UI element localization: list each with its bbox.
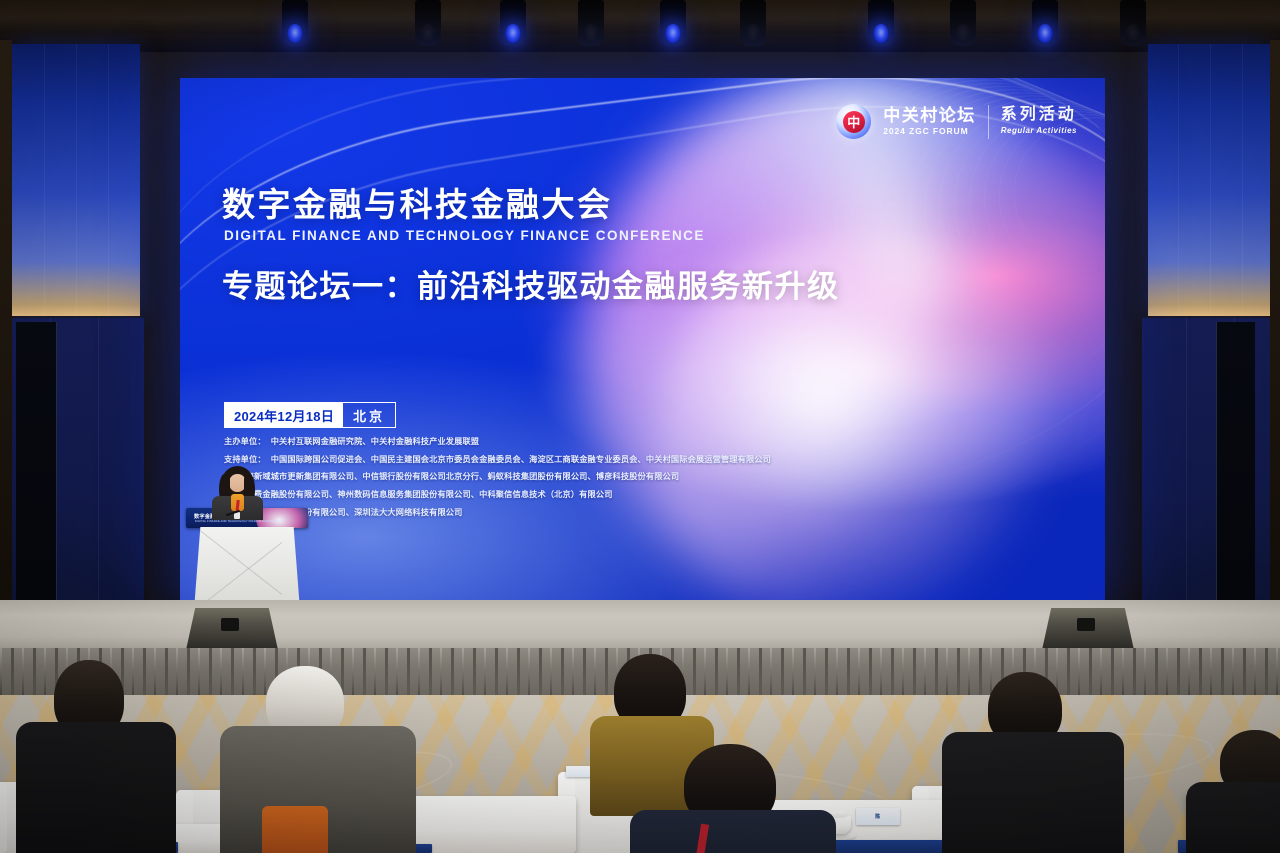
skirt-pleat: [495, 648, 498, 698]
stage-monitor-left: [186, 608, 278, 650]
skirt-pleat: [539, 648, 542, 698]
skirt-pleat: [462, 648, 464, 698]
zgc-forum-logo: 中 中关村论坛 2024 ZGC FORUM 系列活动 Regular Acti…: [836, 104, 1077, 139]
skirt-pleat: [1133, 648, 1136, 698]
light-bulb-icon: [506, 24, 521, 43]
stage-light-3: [500, 0, 526, 46]
skirt-pleat: [1210, 648, 1212, 698]
podium: 数字金融与科技金融大会 DIGITAL FINANCE AND TECHNOLO…: [186, 508, 308, 610]
skirt-pleat: [726, 648, 728, 698]
skirt-pleat: [1243, 648, 1246, 698]
skirt-pleat: [407, 648, 410, 698]
zgc-mark-glyph: 中: [843, 111, 865, 133]
podium-banner-en: DIGITAL FINANCE AND TECHNOLOGY FINANCE C…: [195, 520, 283, 523]
skirt-pleat: [825, 648, 828, 698]
conference-hall-scene: 中 中关村论坛 2024 ZGC FORUM 系列活动 Regular Acti…: [0, 0, 1280, 853]
stage-light-6: [740, 0, 766, 46]
monitor-grille-left: [221, 618, 239, 631]
skirt-pleat: [924, 648, 926, 698]
skirt-pleat: [418, 648, 420, 698]
audience-torso: [942, 732, 1124, 853]
skirt-pleat: [11, 648, 14, 698]
skirt-pleat: [561, 648, 564, 698]
organizer-text: 马上消费金融股份有限公司、神州数码信息服务集团股份有限公司、中科聚信信息技术（北…: [229, 490, 613, 499]
skirt-pleat: [770, 648, 772, 698]
skirt-pleat: [550, 648, 552, 698]
skirt-pleat: [759, 648, 762, 698]
skirt-pleat: [506, 648, 508, 698]
skirt-pleat: [165, 648, 168, 698]
skirt-pleat: [935, 648, 938, 698]
lighting-truss: [0, 34, 1280, 52]
skirt-pleat: [1155, 648, 1158, 698]
skirt-pleat: [891, 648, 894, 698]
skirt-pleat: [209, 648, 212, 698]
speaker-presenter: [208, 466, 266, 518]
skirt-pleat: [869, 648, 872, 698]
series-label-en: Regular Activities: [1001, 127, 1077, 135]
skirt-pleat: [1232, 648, 1234, 698]
organizer-line-3: 北京海新域城市更新集团有限公司、中信银行股份有限公司北京分行、蚂蚁科技集团股份有…: [224, 473, 944, 481]
skirt-pleat: [836, 648, 838, 698]
skirt-pleat: [176, 648, 178, 698]
stage-light-1: [282, 0, 308, 46]
name-card: 陈: [856, 808, 900, 825]
stage-light-10: [1120, 0, 1146, 46]
event-date: 2024年12月18日: [225, 403, 343, 427]
skirt-pleat: [528, 648, 530, 698]
skirt-pleat: [198, 648, 200, 698]
light-bulb-icon: [1038, 24, 1053, 43]
forum-session-title: 专题论坛一：前沿科技驱动金融服务新升级: [222, 261, 840, 306]
stage-light-9: [1032, 0, 1058, 46]
zgc-brand-en: 2024 ZGC FORUM: [883, 127, 976, 136]
zgc-brand-block: 中关村论坛 2024 ZGC FORUM: [883, 107, 976, 137]
light-bulb-icon: [584, 24, 599, 43]
skirt-pleat: [1122, 648, 1124, 698]
organizer-label: 支持单位：: [224, 455, 266, 464]
skirt-pleat: [1276, 648, 1278, 698]
wall-dark-right-outer: [1270, 40, 1280, 640]
skirt-pleat: [814, 648, 816, 698]
skirt-pleat: [1188, 648, 1190, 698]
organizer-list: 主办单位：中关村互联网金融研究院、中关村金融科技产业发展联盟支持单位：中国国际跨…: [224, 438, 944, 527]
door-left[interactable]: [16, 322, 57, 602]
organizer-text: 北京海新域城市更新集团有限公司、中信银行股份有限公司北京分行、蚂蚁科技集团股份有…: [229, 472, 679, 481]
skirt-pleat: [429, 648, 432, 698]
led-display-screen: 中 中关村论坛 2024 ZGC FORUM 系列活动 Regular Acti…: [180, 78, 1105, 600]
skirt-pleat: [473, 648, 476, 698]
organizer-line-4: 马上消费金融股份有限公司、神州数码信息服务集团股份有限公司、中科聚信信息技术（北…: [224, 491, 944, 499]
organizer-line-5: 上海合合信息科技股份有限公司、深圳法大大网络科技有限公司: [224, 509, 944, 517]
light-bulb-icon: [874, 24, 889, 43]
skirt-pleat: [220, 648, 222, 698]
skirt-pleat: [847, 648, 850, 698]
light-bulb-icon: [1126, 24, 1141, 43]
audience-scarf: [262, 806, 328, 853]
series-label-cn: 系列活动: [1001, 107, 1077, 124]
stage-light-2: [415, 0, 441, 46]
skirt-pleat: [1254, 648, 1256, 698]
skirt-pleat: [484, 648, 486, 698]
conference-title-cn: 数字金融与科技金融大会: [222, 178, 613, 226]
skirt-pleat: [1177, 648, 1180, 698]
organizer-line-1: 主办单位：中关村互联网金融研究院、中关村金融科技产业发展联盟: [224, 438, 944, 446]
audience-torso: [1186, 782, 1280, 853]
audience-member: [1194, 730, 1280, 853]
skirt-pleat: [792, 648, 794, 698]
skirt-pleat: [0, 648, 2, 698]
skirt-pleat: [913, 648, 916, 698]
skirt-pleat: [858, 648, 860, 698]
skirt-pleat: [451, 648, 454, 698]
door-right[interactable]: [1216, 322, 1255, 602]
stage-monitor-right: [1042, 608, 1134, 650]
light-bulb-icon: [288, 24, 303, 43]
stage-light-5: [660, 0, 686, 46]
sofa-arm: [0, 782, 7, 853]
monitor-grille-right: [1077, 618, 1095, 631]
stage-light-7: [868, 0, 894, 46]
skirt-pleat: [946, 648, 948, 698]
podium-body: [194, 527, 300, 610]
skirt-pleat: [572, 648, 574, 698]
audience-member: [952, 672, 1112, 853]
organizer-label: 主办单位：: [224, 437, 266, 446]
organizer-text: 中关村互联网金融研究院、中关村金融科技产业发展联盟: [271, 437, 479, 446]
conference-title-en: DIGITAL FINANCE AND TECHNOLOGY FINANCE C…: [224, 228, 705, 243]
series-block: 系列活动 Regular Activities: [1001, 107, 1077, 135]
zgc-mark-icon: 中: [836, 104, 871, 139]
skirt-pleat: [517, 648, 520, 698]
skirt-pleat: [440, 648, 442, 698]
skirt-pleat: [880, 648, 882, 698]
event-city: 北京: [343, 403, 395, 427]
skirt-pleat: [748, 648, 750, 698]
organizer-line-2: 支持单位：中国国际跨国公司促进会、中国民主建国会北京市委员会金融委员会、海淀区工…: [224, 456, 944, 464]
light-bulb-icon: [666, 24, 681, 43]
wall-dark-left-outer: [0, 40, 12, 640]
stage-light-4: [578, 0, 604, 46]
skirt-pleat: [803, 648, 806, 698]
zgc-brand-cn: 中关村论坛: [883, 107, 976, 125]
logo-divider: [988, 105, 989, 139]
wall-panel-right-upper: [1148, 44, 1270, 316]
skirt-pleat: [902, 648, 904, 698]
skirt-pleat: [1166, 648, 1168, 698]
audience-member: [636, 744, 826, 853]
audience-torso: [630, 810, 836, 853]
skirt-pleat: [781, 648, 784, 698]
light-bulb-icon: [421, 24, 436, 43]
skirt-pleat: [187, 648, 190, 698]
skirt-pleat: [1199, 648, 1202, 698]
audience-member: [24, 660, 164, 853]
audience-member: [226, 666, 406, 853]
skirt-pleat: [1265, 648, 1268, 698]
audience-torso: [16, 722, 176, 853]
organizer-text: 中国国际跨国公司促进会、中国民主建国会北京市委员会金融委员会、海淀区工商联金融专…: [271, 455, 771, 464]
light-bulb-icon: [956, 24, 971, 43]
wall-panel-left-upper: [12, 44, 140, 316]
skirt-pleat: [1221, 648, 1224, 698]
stage-light-8: [950, 0, 976, 46]
light-bulb-icon: [746, 24, 761, 43]
date-location-badge: 2024年12月18日 北京: [224, 402, 396, 428]
skirt-pleat: [737, 648, 740, 698]
skirt-pleat: [1144, 648, 1146, 698]
